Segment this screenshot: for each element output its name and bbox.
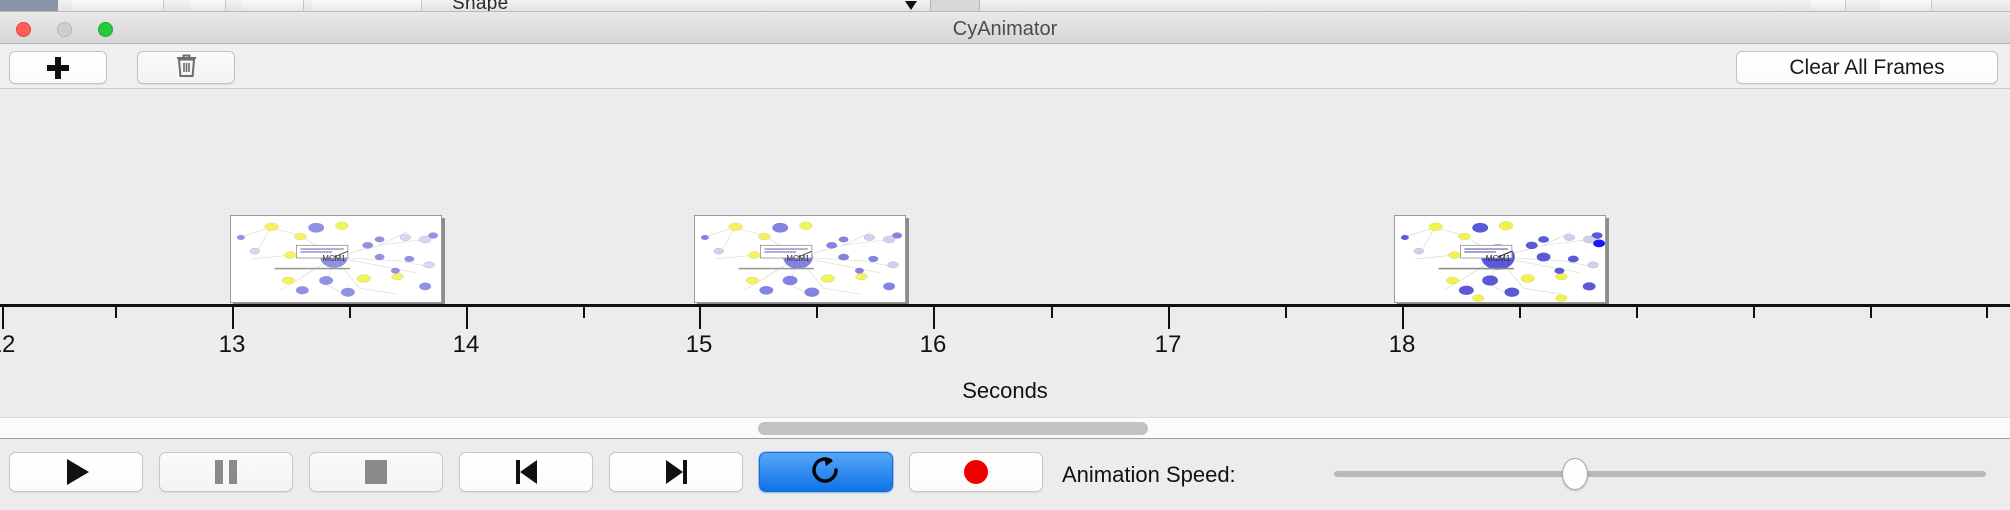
window-title: CyAnimator <box>0 18 2010 41</box>
network-hub-node-label: MCM1 <box>786 254 809 263</box>
play-button[interactable] <box>9 452 143 492</box>
axis-tick-major <box>1168 307 1170 329</box>
axis-tick-minor <box>1986 307 1988 318</box>
axis-tick-label: 14 <box>453 331 480 359</box>
background-segment <box>930 0 980 12</box>
axis-tick-major <box>466 307 468 329</box>
animation-speed-track[interactable] <box>1334 471 1986 477</box>
background-segment <box>1880 0 1932 12</box>
background-segment <box>72 0 164 12</box>
background-window-shape-label: Shape <box>452 0 508 12</box>
axis-tick-label: 17 <box>1155 331 1182 359</box>
play-icon <box>67 459 89 485</box>
network-thumbnail-image: MCM1 <box>231 216 441 302</box>
timeline-scrollbar-thumb[interactable] <box>758 422 1148 435</box>
axis-tick-major <box>699 307 701 329</box>
clear-all-frames-label: Clear All Frames <box>1789 56 1944 80</box>
axis-tick-label: 15 <box>686 331 713 359</box>
network-thumbnail-image: MCM1 <box>695 216 905 302</box>
add-frame-button[interactable] <box>9 51 107 84</box>
background-segment <box>1810 0 1846 12</box>
background-segment <box>190 0 226 12</box>
axis-tick-minor <box>349 307 351 318</box>
axis-tick-label: 16 <box>920 331 947 359</box>
background-segment <box>242 0 304 12</box>
timeline-frame-thumbnail[interactable]: MCM1 <box>694 215 906 303</box>
timeline-panel[interactable]: MCM1 <box>0 90 2010 405</box>
animation-speed-label: Animation Speed: <box>1062 462 1236 488</box>
axis-tick-minor <box>1285 307 1287 318</box>
axis-tick-label: 12 <box>0 331 15 359</box>
axis-tick-minor <box>1753 307 1755 318</box>
background-window: Shape <box>0 0 2010 12</box>
stop-icon <box>365 460 387 484</box>
axis-tick-major <box>2 307 4 329</box>
axis-caption-seconds: Seconds <box>0 378 2010 404</box>
skip-forward-icon <box>666 460 687 484</box>
axis-tick-minor <box>115 307 117 318</box>
network-thumbnail-image: MCM1 <box>1395 216 1605 302</box>
animation-speed-slider[interactable] <box>1334 471 1986 477</box>
timeline-scrollbar[interactable] <box>0 417 2010 439</box>
axis-tick-minor <box>583 307 585 318</box>
timeline-axis-line <box>0 304 2010 307</box>
axis-tick-minor <box>1519 307 1521 318</box>
loop-icon <box>810 455 842 490</box>
axis-tick-minor <box>816 307 818 318</box>
background-segment <box>312 0 422 12</box>
timeline-frame-thumbnail[interactable]: MCM1 <box>1394 215 1606 303</box>
animation-speed-thumb[interactable] <box>1562 458 1588 490</box>
timeline-frame-thumbnail[interactable]: MCM1 <box>230 215 442 303</box>
network-hub-node-label: MCM1 <box>1486 253 1511 263</box>
forward-button[interactable] <box>609 452 743 492</box>
record-icon <box>964 460 988 484</box>
trash-icon <box>175 53 198 83</box>
window-titlebar: CyAnimator <box>0 12 2010 44</box>
axis-tick-major <box>1402 307 1404 329</box>
stop-button[interactable] <box>309 452 443 492</box>
axis-tick-label: 18 <box>1389 331 1416 359</box>
playback-controls-bar: Animation Speed: <box>0 440 2010 510</box>
network-hub-node-label: MCM1 <box>322 254 345 263</box>
axis-tick-major <box>933 307 935 329</box>
rewind-button[interactable] <box>459 452 593 492</box>
axis-tick-minor <box>1870 307 1872 318</box>
axis-tick-minor <box>1636 307 1638 318</box>
background-cursor-icon <box>905 1 917 10</box>
record-button[interactable] <box>909 452 1043 492</box>
clear-all-frames-button[interactable]: Clear All Frames <box>1736 51 1998 84</box>
pause-button[interactable] <box>159 452 293 492</box>
plus-icon <box>47 57 69 79</box>
delete-frame-button[interactable] <box>137 51 235 84</box>
loop-button[interactable] <box>759 452 893 492</box>
pause-icon <box>215 460 237 484</box>
axis-tick-major <box>232 307 234 329</box>
background-window-tab <box>0 0 58 12</box>
axis-tick-label: 13 <box>219 331 246 359</box>
toolbar: Clear All Frames <box>0 45 2010 89</box>
skip-back-icon <box>516 460 537 484</box>
axis-tick-minor <box>1051 307 1053 318</box>
